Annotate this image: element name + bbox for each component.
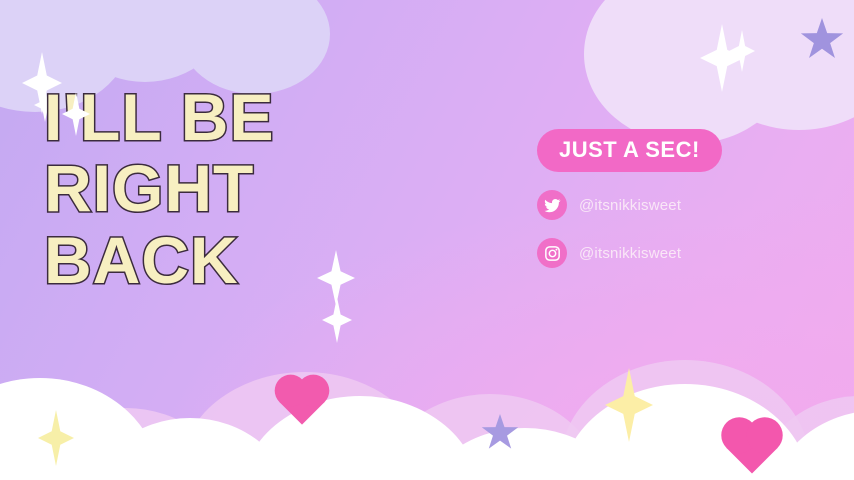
twitter-handle: @itsnikkisweet — [579, 197, 681, 214]
cloud-top-right — [574, 0, 854, 134]
sparkle-top-right-small-icon — [729, 30, 755, 72]
instagram-handle: @itsnikkisweet — [579, 245, 681, 262]
sparkle-top-right-large-icon — [700, 24, 744, 92]
star-top-right-purple-icon — [800, 18, 844, 62]
cloud-bottom-front — [0, 340, 854, 480]
twitter-icon[interactable] — [537, 190, 567, 220]
page-title: I'LL BE RIGHT BACK — [44, 86, 474, 300]
heart-bottom-right-pink-icon — [727, 423, 778, 474]
info-panel: JUST A SEC! @itsnikkisweet @itsnikkiswee… — [537, 129, 722, 268]
social-row-instagram[interactable]: @itsnikkisweet — [537, 238, 722, 268]
headline-line-1: I'LL BE — [44, 86, 474, 149]
status-badge: JUST A SEC! — [537, 129, 722, 172]
headline-line-3: BACK — [44, 229, 474, 292]
instagram-icon[interactable] — [537, 238, 567, 268]
heart-bottom-left-pink-icon — [279, 379, 324, 424]
star-bottom-mid-purple-icon — [481, 414, 519, 452]
brb-overlay-canvas: I'LL BE RIGHT BACK JUST A SEC! @itsnikki… — [0, 0, 854, 480]
sparkle-bottom-mid-yellow-icon — [605, 368, 653, 442]
cloud-bottom-back — [0, 350, 854, 480]
sparkle-bottom-left-yellow-icon — [38, 410, 74, 466]
sparkle-back-lower-icon — [322, 297, 352, 343]
headline-line-2: RIGHT — [44, 157, 474, 220]
social-row-twitter[interactable]: @itsnikkisweet — [537, 190, 722, 220]
